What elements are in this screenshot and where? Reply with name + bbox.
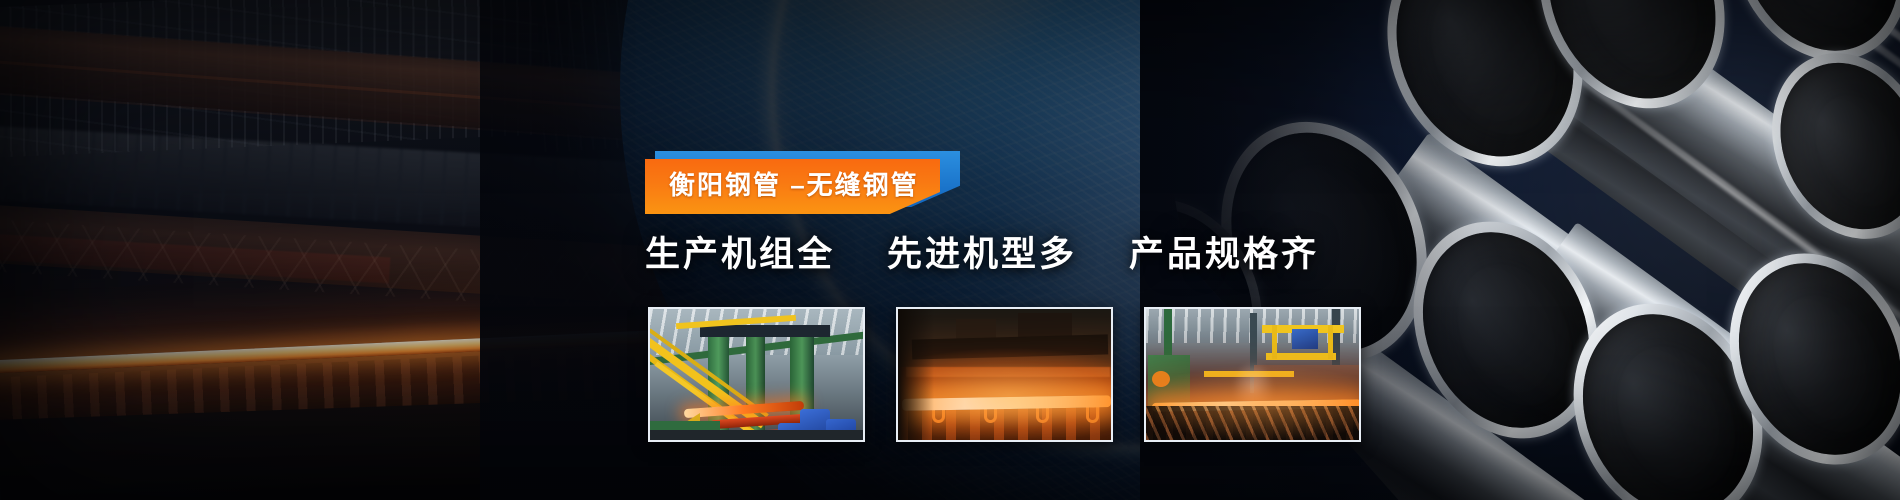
thumbnail-hot-billet-conveyor[interactable] [896, 307, 1113, 442]
thumbnail-rolling-mill-line[interactable] [648, 307, 865, 442]
thumbnail-steel-plant-bar-line[interactable] [1144, 307, 1361, 442]
brand-tag[interactable]: 衡阳钢管 –无缝钢管 [645, 159, 955, 215]
brand-tag-label: 衡阳钢管 –无缝钢管 [645, 172, 919, 198]
headline-item-2: 先进机型多 [887, 237, 1077, 272]
headline: 生产机组全 先进机型多 产品规格齐 [645, 237, 1319, 272]
banner-content: 衡阳钢管 –无缝钢管 生产机组全 先进机型多 产品规格齐 [0, 0, 1900, 500]
brand-tag-orange-plate: 衡阳钢管 –无缝钢管 [645, 159, 940, 214]
thumbnail-1-art [650, 309, 863, 440]
headline-item-3: 产品规格齐 [1129, 237, 1319, 272]
headline-item-1: 生产机组全 [645, 237, 835, 272]
thumbnail-3-art [1146, 309, 1359, 440]
thumbnail-strip [648, 307, 1361, 442]
thumbnail-2-art [898, 309, 1111, 440]
promo-banner: 衡阳钢管 –无缝钢管 生产机组全 先进机型多 产品规格齐 [0, 0, 1900, 500]
